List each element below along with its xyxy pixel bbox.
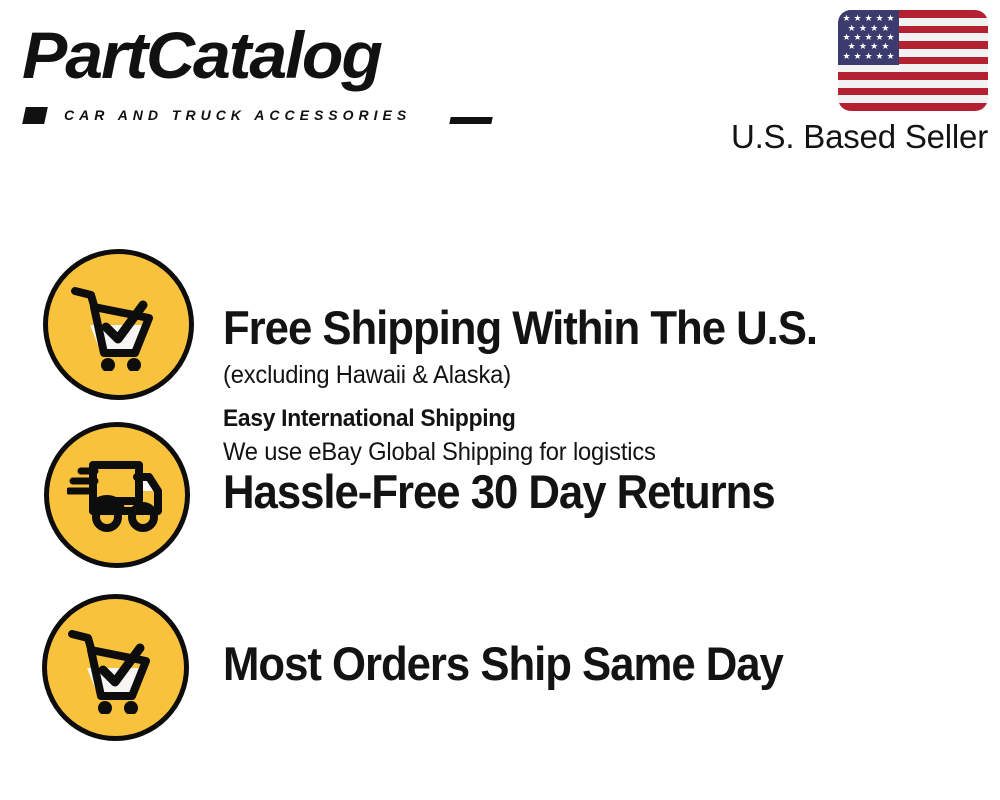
logo-accent-bar-left (22, 107, 48, 124)
star-icon: ★ (875, 52, 883, 61)
star-icon: ★ (864, 14, 872, 23)
feature-sub-note: (excluding Hawaii & Alaska) (223, 358, 945, 392)
star-icon: ★ (842, 14, 850, 23)
flag-stars: ★ ★ ★ ★ ★ ★ ★ ★ ★ ★ ★ ★ (838, 10, 899, 65)
star-icon: ★ (848, 42, 856, 51)
promo-banner: PartCatalog CAR AND TRUCK ACCESSORIES (0, 0, 1000, 800)
flag-canton: ★ ★ ★ ★ ★ ★ ★ ★ ★ ★ ★ ★ (838, 10, 899, 65)
star-icon: ★ (859, 42, 867, 51)
feature-text-block: Hassle-Free 30 Day Returns (223, 466, 983, 518)
brand-tagline-row: CAR AND TRUCK ACCESSORIES (24, 106, 494, 126)
star-icon: ★ (875, 14, 883, 23)
star-icon: ★ (886, 52, 894, 61)
star-icon: ★ (853, 14, 861, 23)
feature-row: Most Orders Ship Same Day (0, 592, 1000, 767)
shopping-cart-check-icon (43, 249, 194, 400)
feature-row: Free Shipping Within The U.S. (excluding… (0, 247, 1000, 422)
feature-title: Free Shipping Within The U.S. (223, 302, 930, 354)
feature-title: Hassle-Free 30 Day Returns (223, 466, 930, 518)
us-based-seller-label: U.S. Based Seller (722, 118, 988, 156)
feature-text-block: Most Orders Ship Same Day (223, 638, 983, 690)
star-icon: ★ (864, 52, 872, 61)
feature-row: Hassle-Free 30 Day Returns (0, 420, 1000, 592)
star-icon: ★ (886, 14, 894, 23)
delivery-truck-icon (44, 422, 190, 568)
feature-title: Most Orders Ship Same Day (223, 638, 930, 690)
banner-header: PartCatalog CAR AND TRUCK ACCESSORIES (0, 0, 1000, 175)
star-icon: ★ (881, 42, 889, 51)
star-icon: ★ (870, 42, 878, 51)
logo-accent-bar-right (449, 117, 492, 124)
star-icon: ★ (842, 52, 850, 61)
shopping-cart-check-icon (42, 594, 189, 741)
brand-tagline: CAR AND TRUCK ACCESSORIES (64, 106, 411, 125)
brand-logo: PartCatalog CAR AND TRUCK ACCESSORIES (22, 18, 492, 118)
brand-wordmark: PartCatalog (22, 18, 381, 92)
feature-list: Free Shipping Within The U.S. (excluding… (0, 175, 1000, 800)
star-icon: ★ (853, 52, 861, 61)
us-flag-icon: ★ ★ ★ ★ ★ ★ ★ ★ ★ ★ ★ ★ (838, 10, 988, 111)
